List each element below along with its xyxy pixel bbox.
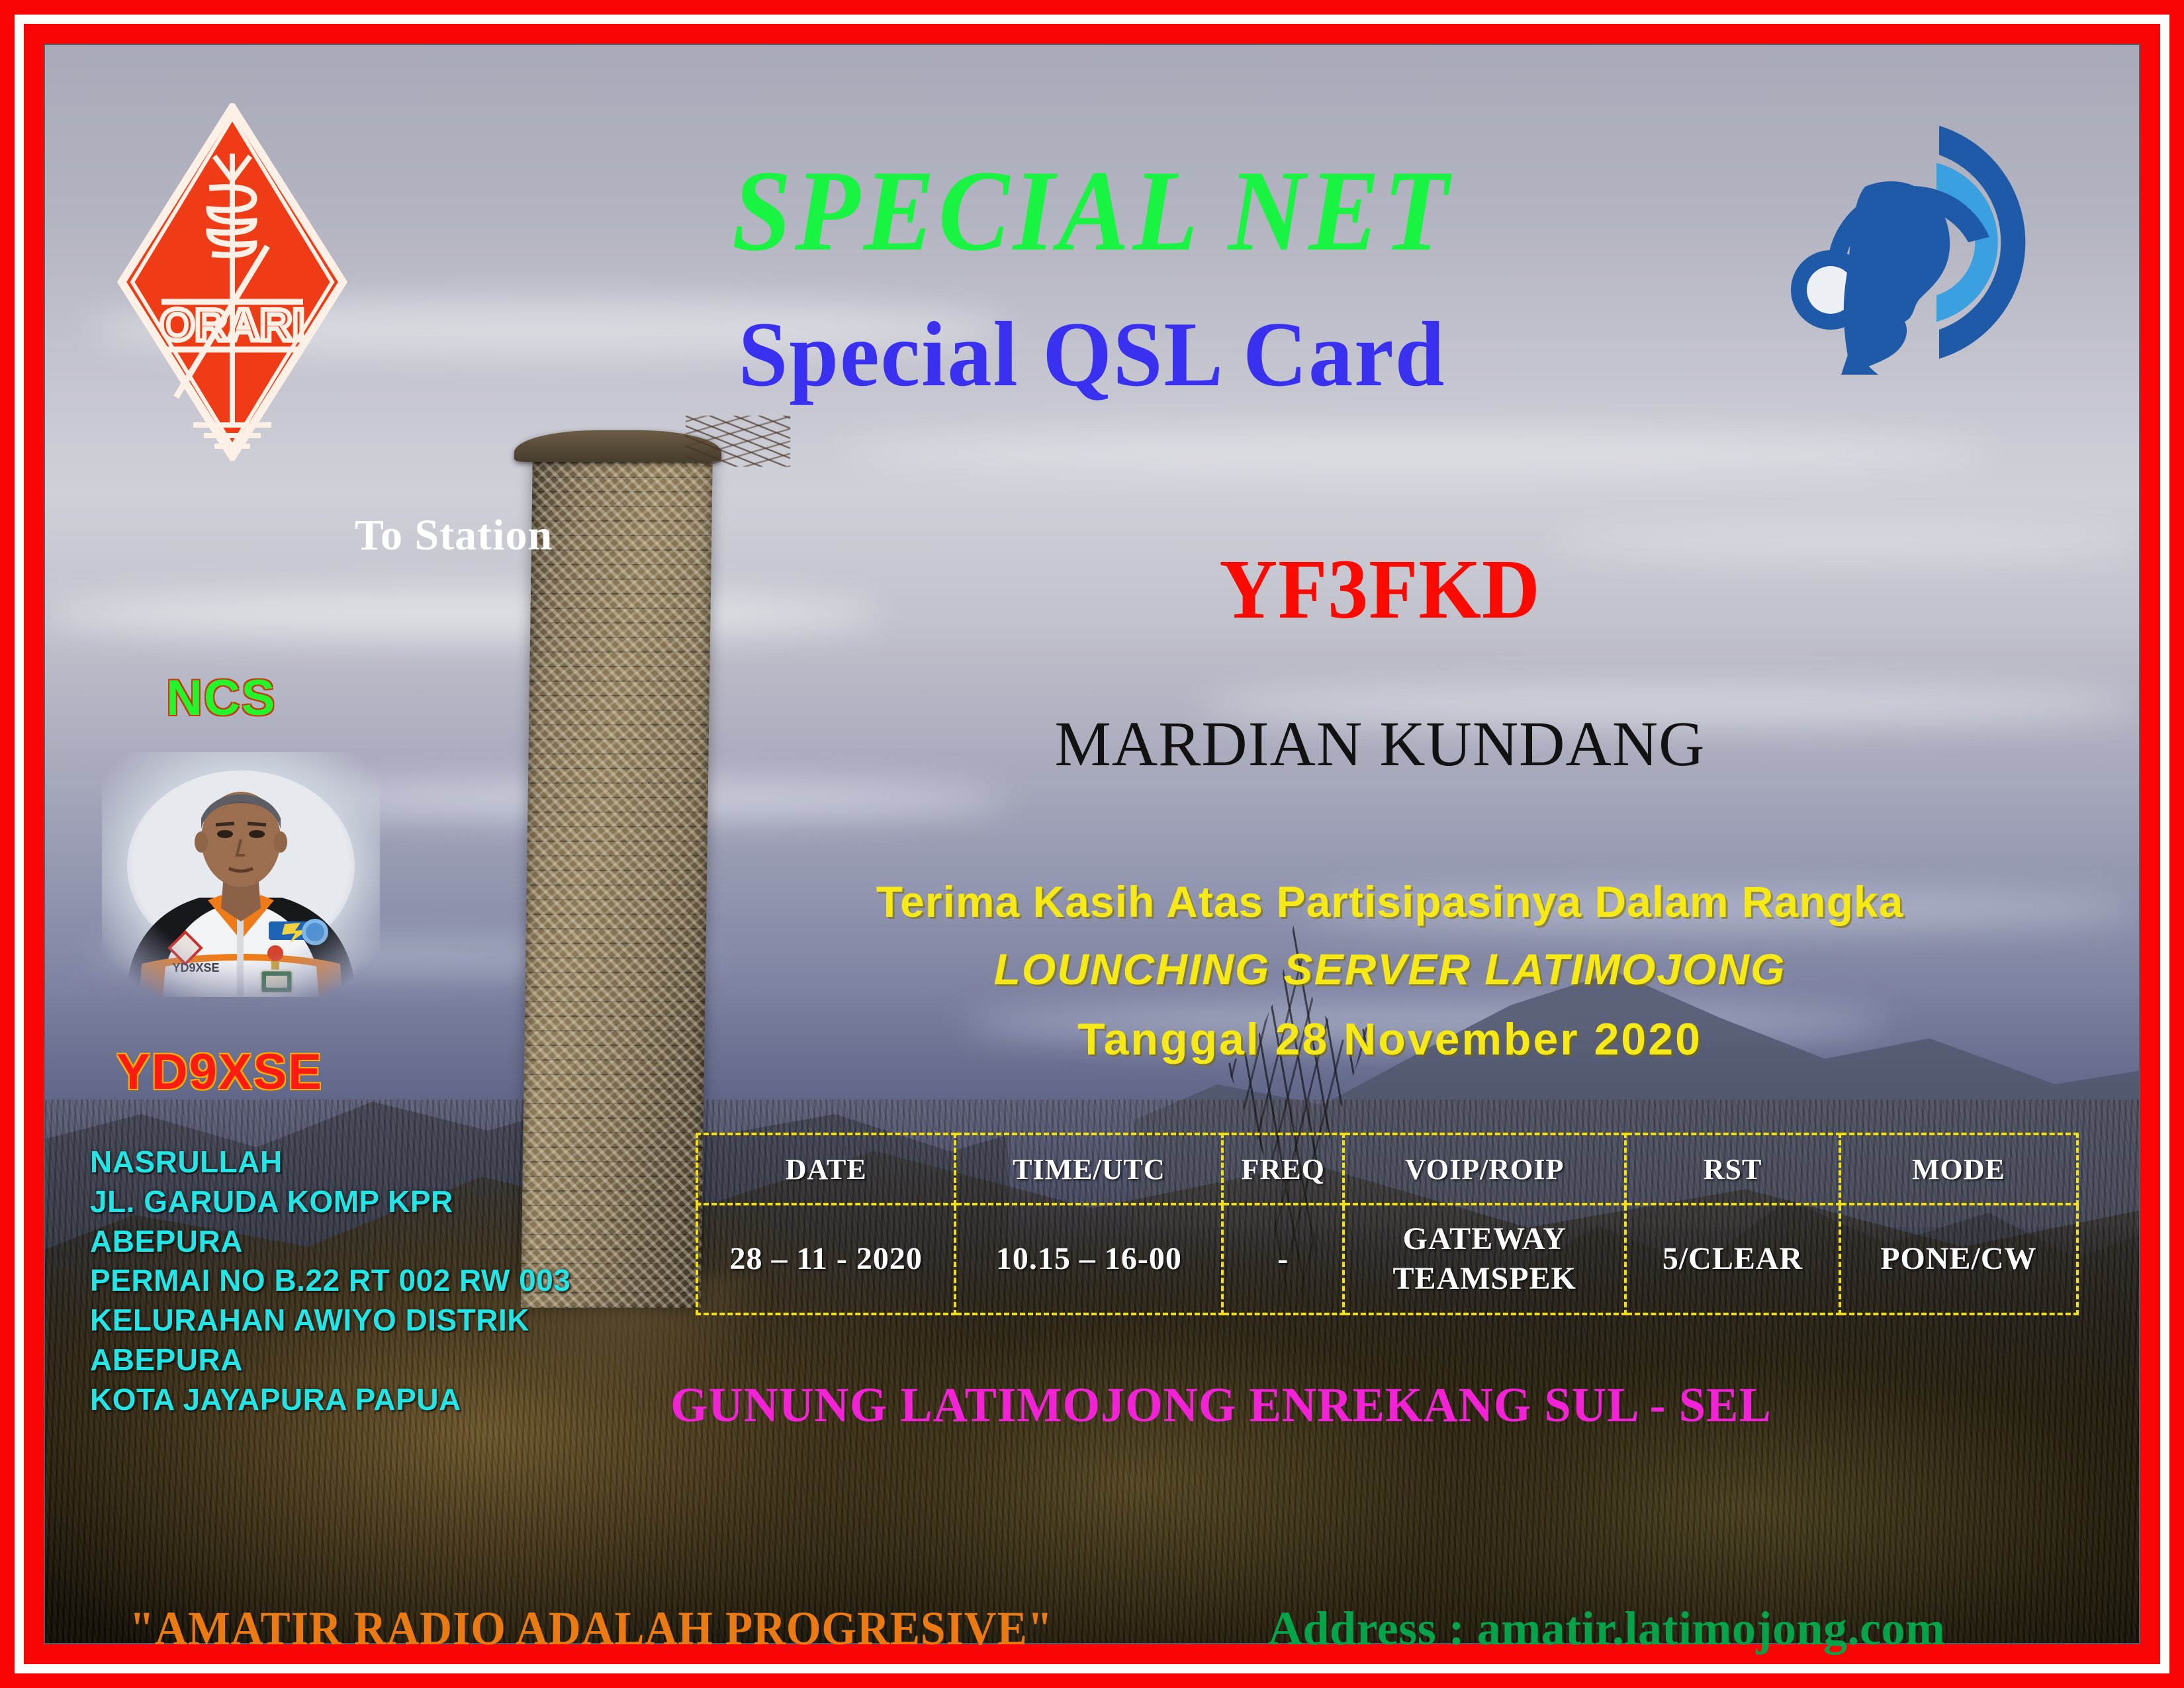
cell-mode: PONE/CW [1840, 1204, 2077, 1314]
qsl-card: ORARI [0, 0, 2184, 1688]
address-line: PERMAI NO B.22 RT 002 RW 003 [90, 1261, 570, 1301]
ncs-callsign: YD9XSE [116, 1043, 323, 1101]
column-header-date: DATE [697, 1134, 955, 1204]
card-frame-white-gap: ORARI [15, 15, 2169, 1673]
message-line-3: Tanggal 28 November 2020 [752, 1013, 2028, 1065]
location-line: GUNUNG LATIMOJONG ENREKANG SUL - SEL [670, 1378, 1772, 1434]
address-line: KELURAHAN AWIYO DISTRIK [90, 1301, 570, 1340]
cell-voip-roip-line2: TEAMSPEK [1345, 1259, 1623, 1299]
footer-web-address: Address : amatir.latimojong.com [1268, 1601, 1945, 1656]
address-line: ABEPURA [90, 1340, 570, 1380]
page-title-special-net: SPECIAL NET [109, 153, 2075, 269]
to-station-label: To Station [355, 510, 553, 561]
footer-slogan: "AMATIR RADIO ADALAH PROGRESIVE" [130, 1601, 1054, 1656]
cell-freq: - [1222, 1204, 1343, 1314]
photo-shirt-callsign: YD9XSE [172, 961, 219, 974]
qso-log-table: DATE TIME/UTC FREQ VOIP/ROIP RST MODE 28… [696, 1133, 2079, 1315]
cell-voip-roip-line1: GATEWAY [1345, 1219, 1623, 1259]
address-line: JL. GARUDA KOMP KPR [90, 1182, 570, 1222]
recipient-callsign: YF3FKD [815, 547, 1945, 632]
table-header-row: DATE TIME/UTC FREQ VOIP/ROIP RST MODE [697, 1134, 2077, 1204]
column-header-time-utc: TIME/UTC [955, 1134, 1222, 1204]
column-header-mode: MODE [1840, 1134, 2077, 1204]
message-line-1: Terima Kasih Atas Partisipasinya Dalam R… [752, 876, 2028, 927]
cell-date: 28 – 11 - 2020 [697, 1204, 955, 1314]
card-content-layer: ORARI [24, 24, 2160, 1664]
sender-address-block: NASRULLAH JL. GARUDA KOMP KPR ABEPURA PE… [90, 1143, 570, 1420]
cell-voip-roip: GATEWAY TEAMSPEK [1343, 1204, 1625, 1314]
message-line-2: LOUNCHING SERVER LATIMOJONG [752, 944, 2028, 994]
column-header-freq: FREQ [1222, 1134, 1343, 1204]
cell-time-utc: 10.15 – 16-00 [955, 1204, 1222, 1314]
address-line: KOTA JAYAPURA PAPUA [90, 1380, 570, 1420]
column-header-rst: RST [1625, 1134, 1839, 1204]
cell-rst: 5/CLEAR [1625, 1204, 1839, 1314]
address-line: ABEPURA [90, 1222, 570, 1262]
address-line: NASRULLAH [90, 1143, 570, 1182]
table-row: 28 – 11 - 2020 10.15 – 16-00 - GATEWAY T… [697, 1204, 2077, 1314]
card-frame-inner-red: ORARI [24, 24, 2160, 1664]
ncs-operator-photo: YD9XSE [102, 752, 380, 997]
recipient-operator-name: MARDIAN KUNDANG [785, 712, 1975, 776]
ncs-label: NCS [166, 669, 276, 727]
page-subtitle-qsl-card: Special QSL Card [67, 308, 2118, 401]
column-header-voip-roip: VOIP/ROIP [1343, 1134, 1625, 1204]
